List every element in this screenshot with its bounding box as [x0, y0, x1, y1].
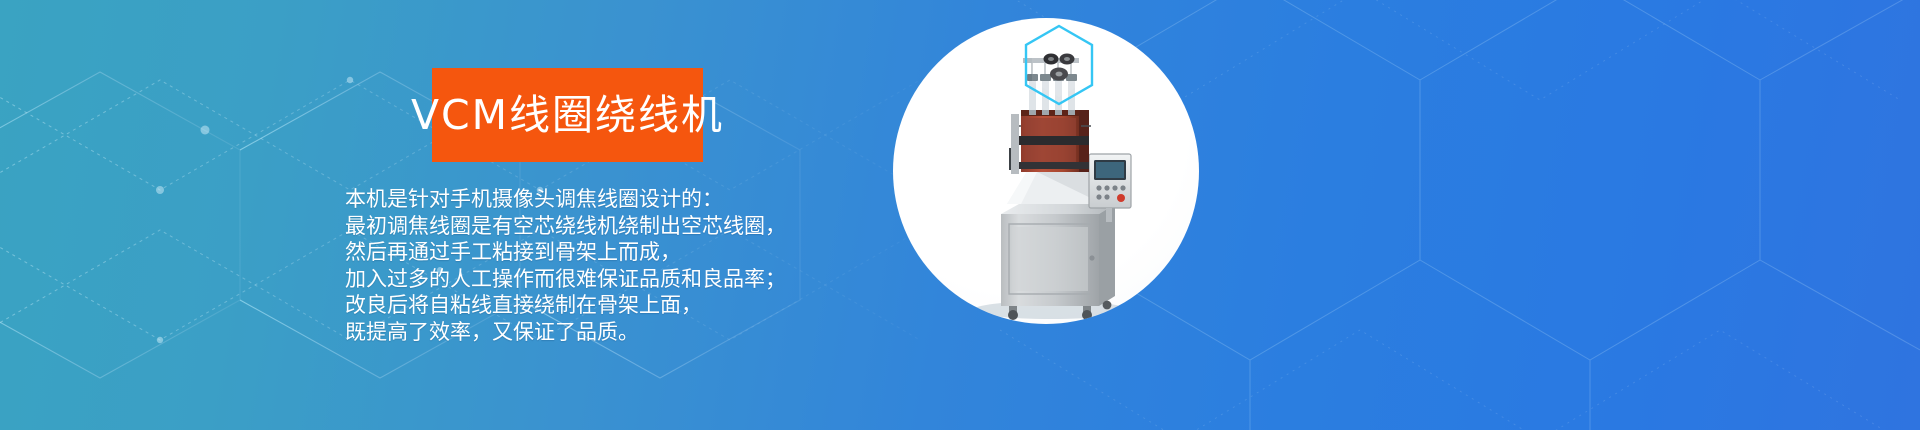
banner-description: 本机是针对手机摄像头调焦线圈设计的： 最初调焦线圈是有空芯绕线机绕制出空芯线圈，…: [345, 186, 905, 345]
description-line: 既提高了效率，又保证了品质。: [345, 319, 905, 346]
page-title: VCM线圈绕线机: [411, 95, 724, 136]
description-line: 加入过多的人工操作而很难保证品质和良品率；: [345, 266, 905, 293]
description-line: 然后再通过手工粘接到骨架上而成，: [345, 239, 905, 266]
description-line: 最初调焦线圈是有空芯绕线机绕制出空芯线圈，: [345, 213, 905, 240]
coil-hexagon-badge: [1022, 24, 1096, 106]
description-line: 改良后将自粘线直接绕制在骨架上面，: [345, 292, 905, 319]
description-line: 本机是针对手机摄像头调焦线圈设计的：: [345, 186, 905, 213]
product-banner: VCM线圈绕线机 本机是针对手机摄像头调焦线圈设计的： 最初调焦线圈是有空芯绕线…: [0, 0, 1920, 430]
banner-title-plate: VCM线圈绕线机: [432, 68, 703, 162]
